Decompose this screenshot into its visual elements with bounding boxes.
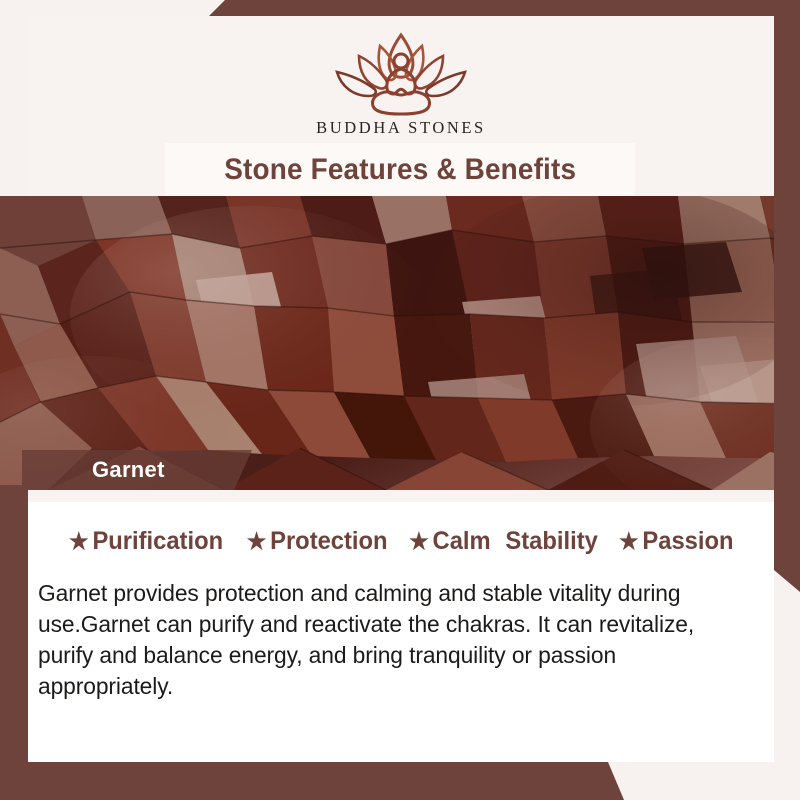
benefit-item: Stability <box>506 527 598 556</box>
benefit-label: Calm <box>433 527 491 556</box>
benefit-label: Passion <box>643 527 734 556</box>
page-title: Stone Features & Benefits <box>224 153 576 187</box>
headline-banner: Stone Features & Benefits <box>165 143 635 196</box>
stone-description: Garnet provides protection and calming a… <box>38 578 738 702</box>
stone-name-label: Garnet <box>92 457 165 483</box>
benefit-label: Protection <box>270 527 387 556</box>
garnet-photo <box>0 196 800 490</box>
benefit-item: ★Calm <box>410 527 491 556</box>
star-icon: ★ <box>69 530 89 553</box>
garnet-photo-graphic <box>0 196 800 490</box>
benefit-item: ★Purification <box>69 527 223 556</box>
star-icon: ★ <box>410 530 430 553</box>
frame-top-bar <box>0 0 800 16</box>
star-icon: ★ <box>619 530 639 553</box>
frame-bottom-bar <box>0 762 800 800</box>
star-icon: ★ <box>247 530 267 553</box>
benefit-item: ★Passion <box>619 527 733 556</box>
benefits-list: ★Purification★Protection★CalmStability★P… <box>28 527 774 556</box>
panel-top-strip <box>28 490 774 502</box>
stone-name-tag: Garnet <box>22 450 252 490</box>
benefit-item: ★Protection <box>247 527 388 556</box>
brand-name: BUDDHA STONES <box>316 118 486 138</box>
brand-header: BUDDHA STONES <box>28 16 774 144</box>
frame-left-bar <box>0 485 28 800</box>
frame-right-bar <box>774 0 800 592</box>
benefit-label: Purification <box>92 527 223 556</box>
benefit-label: Stability <box>506 527 598 556</box>
lotus-meditation-logo-icon <box>317 30 485 116</box>
stone-info-card: BUDDHA STONES Stone Features & Benefits … <box>0 0 800 800</box>
